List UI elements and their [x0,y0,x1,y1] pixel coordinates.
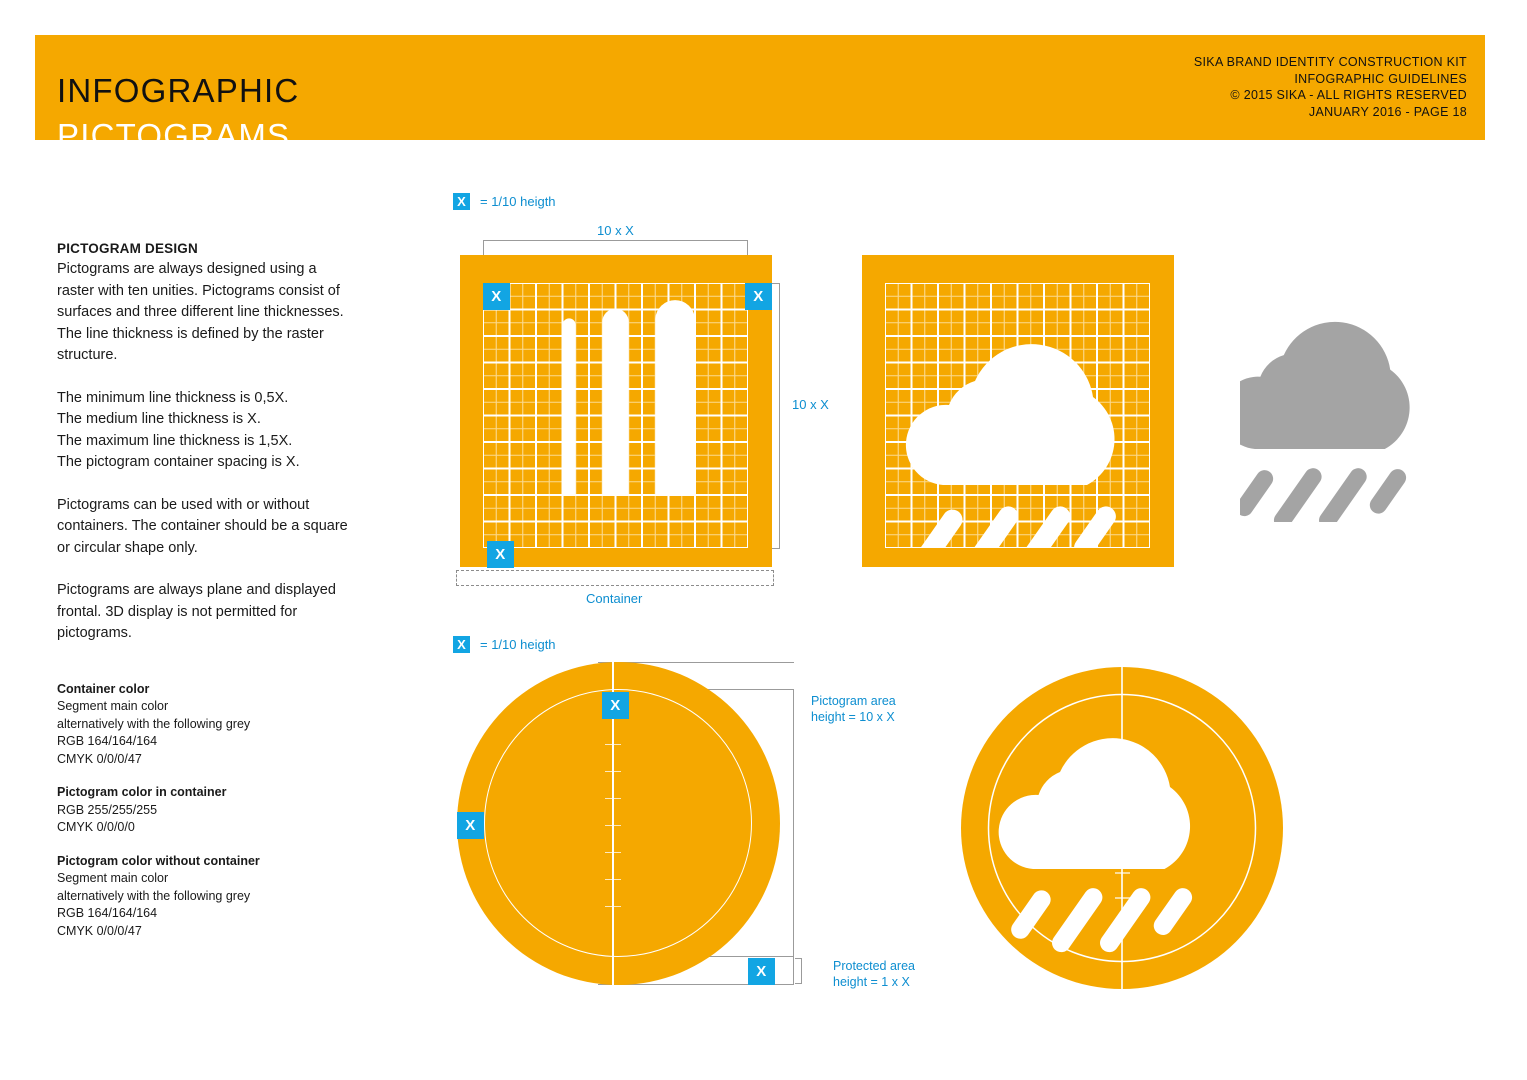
protected-bracket-vertical [801,958,802,984]
circular-inner-ring [484,689,752,957]
rule-line-1: The minimum line thickness is 0,5X. [57,388,357,410]
color-block-container-line-3: RGB 164/164/164 [57,733,357,751]
dimension-label-height: 10 x X [792,396,829,413]
circle-guide-protected-right [793,956,794,985]
rule-line-3: The maximum line thickness is 1,5X. [57,431,357,453]
color-block-in-container-line-1: RGB 255/255/255 [57,802,357,820]
x-badge-circle-bottom: X [748,958,775,985]
color-block-container: Container color Segment main color alter… [57,681,357,769]
pictogram-area-annotation-line-2: height = 10 x X [811,709,896,725]
circle-guide-inner-right [793,689,794,957]
header-meta-line-1: SIKA BRAND IDENTITY CONSTRUCTION KIT [1194,54,1467,71]
legend-x-badge-bottom: X [453,636,470,653]
grey-rain-cloud-svg [1240,292,1480,522]
legend-x-text-top: = 1/10 heigth [480,193,556,210]
line-thickness-demo-bars [563,300,696,495]
rule-line-4: The pictogram container spacing is X. [57,452,357,474]
section-heading: PICTOGRAM DESIGN [57,240,357,257]
color-block-container-title: Container color [57,681,357,699]
circle-tick-6 [605,879,621,880]
x-badge-circle-top: X [602,692,629,719]
color-block-without-container-line-3: RGB 164/164/164 [57,905,357,923]
container-outline [456,570,774,586]
header-meta-line-2: INFOGRAPHIC GUIDELINES [1194,71,1467,88]
dimension-label-width: 10 x X [597,222,634,239]
left-text-column: PICTOGRAM DESIGN Pictograms are always d… [57,240,357,940]
pictogram-grey-rain-cloud [1240,292,1480,522]
color-block-container-line-1: Segment main color [57,698,357,716]
circle-tick-1 [605,744,621,745]
protected-area-annotation-line-1: Protected area [833,958,915,974]
pictogram-grid-rain-cloud [885,283,1150,548]
color-block-without-container-title: Pictogram color without container [57,853,357,871]
circle-tick-2 [605,771,621,772]
legend-x-text-bottom: = 1/10 heigth [480,636,556,653]
dimension-guide-right-vertical [779,283,780,548]
color-block-pictogram-without-container: Pictogram color without container Segmen… [57,853,357,941]
pictogram-area-annotation-line-1: Pictogram area [811,693,896,709]
rain-cloud-grid-svg [885,283,1150,548]
circular-rain-cloud-svg [961,667,1283,989]
color-block-in-container-title: Pictogram color in container [57,784,357,802]
protected-bracket-bottom [795,983,802,984]
circle-tick-7 [605,906,621,907]
color-block-without-container-line-2: alternatively with the following grey [57,888,357,906]
page-header: INFOGRAPHIC PICTOGRAMS SIKA BRAND IDENTI… [35,35,1485,140]
circle-tick-5 [605,852,621,853]
protected-area-annotation: Protected area height = 1 x X [833,958,915,990]
protected-bracket-top [795,958,802,959]
paragraph-containers: Pictograms can be used with or without c… [57,495,357,560]
color-block-container-line-4: CMYK 0/0/0/47 [57,751,357,769]
x-badge-bottom-left: X [487,541,514,568]
protected-area-annotation-line-2: height = 1 x X [833,974,915,990]
x-badge-top-left: X [483,283,510,310]
header-meta-line-3: © 2015 SIKA - ALL RIGHTS RESERVED [1194,87,1467,104]
header-meta: SIKA BRAND IDENTITY CONSTRUCTION KIT INF… [1194,54,1467,120]
x-badge-circle-left: X [457,812,484,839]
container-label: Container [586,590,642,607]
circle-tick-3 [605,798,621,799]
color-block-container-line-2: alternatively with the following grey [57,716,357,734]
paragraph-plane: Pictograms are always plane and displaye… [57,580,357,645]
pictogram-area-annotation: Pictogram area height = 10 x X [811,693,896,725]
dimension-guide-top-horizontal [483,240,748,241]
page-title-primary: INFOGRAPHIC [57,74,299,107]
color-block-without-container-line-4: CMYK 0/0/0/47 [57,923,357,941]
construction-grid [483,283,748,548]
color-block-without-container-line-1: Segment main color [57,870,357,888]
legend-x-badge-top: X [453,193,470,210]
page-root: INFOGRAPHIC PICTOGRAMS SIKA BRAND IDENTI… [0,0,1527,1080]
page-title-secondary: PICTOGRAMS [57,119,290,152]
grid-svg [483,283,748,548]
rule-line-2: The medium line thickness is X. [57,409,357,431]
paragraph-intro: Pictograms are always designed using a r… [57,259,357,367]
color-block-in-container-line-2: CMYK 0/0/0/0 [57,819,357,837]
circle-tick-4 [605,825,621,826]
x-badge-top-right: X [745,283,772,310]
color-block-pictogram-in-container: Pictogram color in container RGB 255/255… [57,784,357,837]
header-meta-line-4: JANUARY 2016 - PAGE 18 [1194,104,1467,121]
pictogram-circular-rain-cloud [961,667,1283,989]
